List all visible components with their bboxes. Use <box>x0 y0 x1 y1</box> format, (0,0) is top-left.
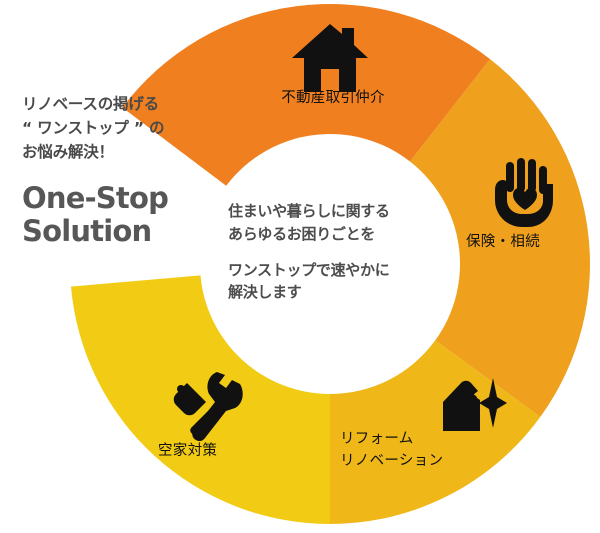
segment-label-real-estate: 不動産取引仲介 <box>238 88 428 110</box>
segment-label-vacant-house: 空家対策 <box>158 441 288 463</box>
center-copy-paragraph-1: 住まいや暮らしに関する あらゆるお困りごとを <box>228 200 460 246</box>
segment-label-insurance: 保険・相続 <box>466 232 592 254</box>
center-copy-paragraph-2: ワンストップで速やかに 解決します <box>228 259 460 305</box>
page-title: One-Stop Solution <box>22 182 222 248</box>
lead-text: リノベースの掲げる “ ワンストップ ” の お悩み解決！ <box>22 92 222 164</box>
infographic-canvas: リノベースの掲げる “ ワンストップ ” の お悩み解決！ One-Stop S… <box>0 0 600 533</box>
left-headline-block: リノベースの掲げる “ ワンストップ ” の お悩み解決！ One-Stop S… <box>22 92 222 248</box>
hammer-wrench-icon <box>168 372 244 447</box>
segment-label-reform: リフォーム リノベーション <box>340 429 510 473</box>
center-copy-block: 住まいや暮らしに関する あらゆるお困りごとを ワンストップで速やかに 解決します <box>228 200 460 304</box>
hand-heart-icon <box>494 158 558 233</box>
